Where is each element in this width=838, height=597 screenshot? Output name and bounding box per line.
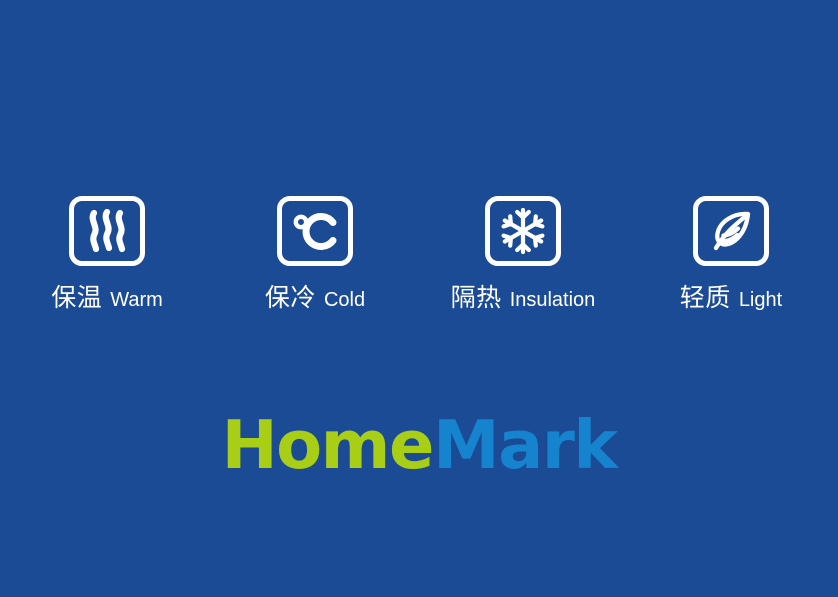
feature-label-warm: 保温 Warm	[51, 285, 163, 310]
icon-frame-insulation	[485, 196, 561, 266]
feature-label-en: Cold	[324, 290, 365, 310]
celsius-degree-icon	[292, 209, 338, 253]
icon-frame-warm	[69, 196, 145, 266]
heat-waves-icon	[86, 209, 128, 253]
leaf-feather-icon	[708, 208, 754, 254]
feature-label-cn: 保冷	[265, 285, 316, 310]
feature-item-cold: 保冷 Cold	[240, 196, 390, 310]
feature-label-cold: 保冷 Cold	[265, 285, 365, 310]
feature-label-en: Light	[739, 290, 782, 310]
snowflake-icon	[499, 207, 547, 255]
feature-item-insulation: 隔热 Insulation	[448, 196, 598, 310]
feature-label-cn: 轻质	[680, 285, 731, 310]
feature-banner: 保温 Warm 保冷 Cold	[0, 0, 838, 597]
feature-label-en: Warm	[110, 290, 163, 310]
feature-label-cn: 保温	[51, 285, 102, 310]
feature-label-light: 轻质 Light	[680, 285, 782, 310]
icon-frame-light	[693, 196, 769, 266]
feature-label-en: Insulation	[510, 290, 596, 310]
brand-logo-mark: Mark	[433, 406, 616, 484]
feature-label-insulation: 隔热 Insulation	[451, 285, 596, 310]
feature-item-light: 轻质 Light	[656, 196, 806, 310]
icon-frame-cold	[277, 196, 353, 266]
feature-label-cn: 隔热	[451, 285, 502, 310]
brand-logo-home: Home	[222, 406, 433, 484]
feature-list: 保温 Warm 保冷 Cold	[0, 196, 838, 310]
brand-logo: HomeMark	[0, 412, 838, 479]
feature-item-warm: 保温 Warm	[32, 196, 182, 310]
